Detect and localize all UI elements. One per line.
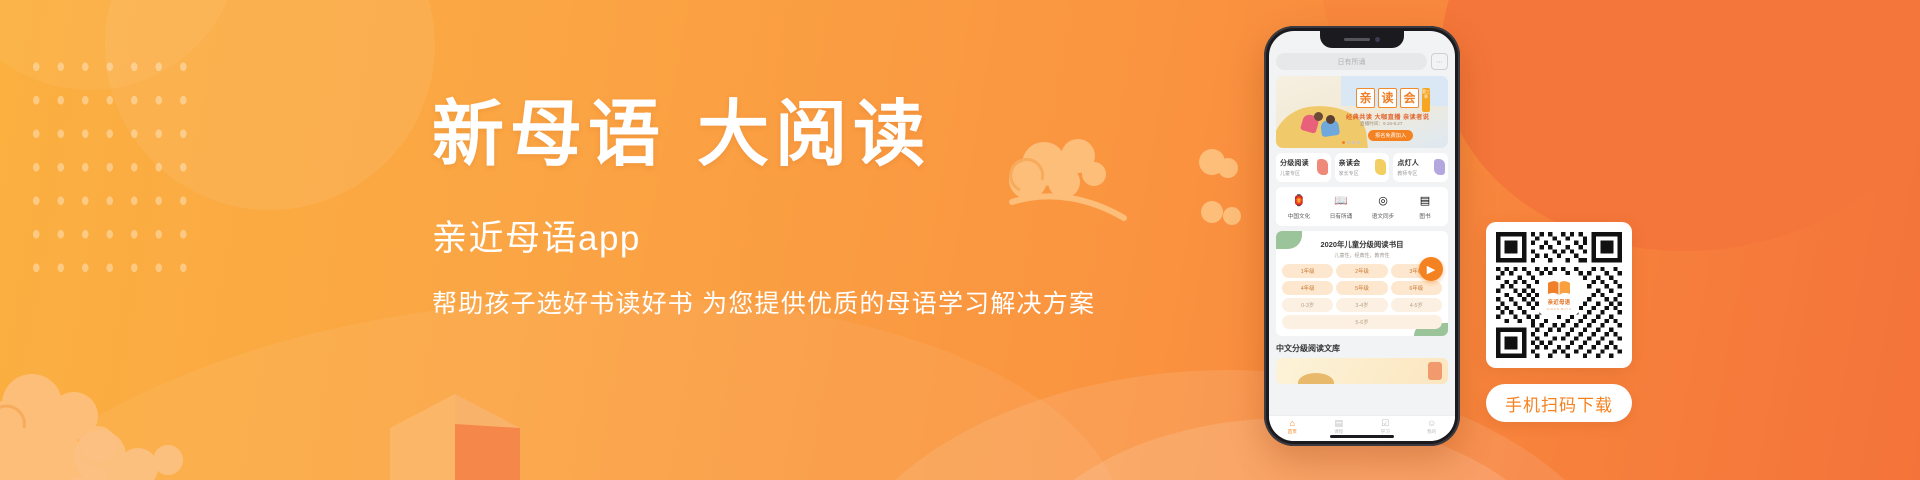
- tab-label: 首页: [1288, 429, 1297, 435]
- promo-banner: 新母语 大阅读 亲近母语app 帮助孩子选好书读好书 为您提供优质的母语学习解决…: [0, 0, 1920, 480]
- promo-title-char: 会: [1400, 88, 1419, 108]
- document-icon: ▤: [1418, 194, 1433, 209]
- download-button[interactable]: 手机扫码下载: [1486, 384, 1632, 422]
- background-circle-left-small: [0, 0, 240, 90]
- promo-title: 亲 读 会 第三季: [1356, 88, 1430, 112]
- age-chip[interactable]: 0-3岁: [1282, 298, 1333, 312]
- grade-chip[interactable]: 1年级: [1282, 264, 1333, 278]
- brand-pinyin: QINJIN MUYU: [1547, 307, 1572, 311]
- promo-ribbon: 第三季: [1422, 88, 1430, 112]
- quick-link-label: 日有所诵: [1330, 212, 1352, 220]
- bookmark-icon: [1375, 159, 1386, 175]
- carousel-dot[interactable]: [1352, 141, 1355, 144]
- tab-label: 课程: [1334, 429, 1343, 435]
- phone-mockup: 日有所诵 ⋯ 亲 读 会 第三季 经典共读 大咖: [1264, 26, 1460, 446]
- phone-screen: 日有所诵 ⋯ 亲 读 会 第三季 经典共读 大咖: [1269, 31, 1455, 441]
- user-icon: ☺: [1427, 419, 1436, 428]
- brand-name: 亲近母语: [1548, 298, 1571, 306]
- grade-chip[interactable]: 6年级: [1391, 281, 1442, 295]
- quick-link-daily-recitation[interactable]: 📖 日有所诵: [1320, 194, 1362, 220]
- age-chip[interactable]: 4-5岁: [1391, 298, 1442, 312]
- age-chip[interactable]: 5-6岁: [1282, 315, 1442, 329]
- quick-link-label: 语文同步: [1372, 212, 1394, 220]
- quick-link-books[interactable]: ▤ 图书: [1404, 194, 1446, 220]
- tab-label: 我的: [1427, 429, 1436, 435]
- tab-home[interactable]: ⌂ 首页: [1269, 419, 1316, 435]
- background-circle-left: [105, 0, 435, 210]
- home-icon: ⌂: [1290, 419, 1295, 428]
- entry-card-graded-reading[interactable]: 分级阅读 儿童专区: [1276, 153, 1331, 182]
- page-title: 新母语 大阅读: [432, 96, 1092, 172]
- isometric-cube-icon: [390, 394, 520, 480]
- auspicious-cloud-icon: [60, 406, 210, 480]
- brand-logo: 亲近母语 QINJIN MUYU: [1539, 275, 1579, 315]
- carousel-dot[interactable]: [1347, 141, 1350, 144]
- promo-child-blue-head: [1326, 115, 1335, 124]
- video-play-icon[interactable]: ▶: [1419, 257, 1443, 281]
- front-camera-icon: [1375, 37, 1380, 42]
- carousel-dot[interactable]: [1357, 141, 1360, 144]
- auspicious-cloud-icon: [1196, 144, 1242, 188]
- list-icon: ▤: [1334, 419, 1343, 428]
- tagline: 帮助孩子选好书读好书 为您提供优质的母语学习解决方案: [432, 289, 1092, 320]
- grade-chip[interactable]: 4年级: [1282, 281, 1333, 295]
- carousel-dot[interactable]: [1342, 141, 1345, 144]
- app-search-row: 日有所诵 ⋯: [1276, 53, 1448, 70]
- speaker-icon: [1344, 38, 1370, 41]
- carousel-dots[interactable]: [1342, 141, 1360, 144]
- promo-title-char: 亲: [1356, 88, 1375, 108]
- age-chip[interactable]: 3-4岁: [1336, 298, 1387, 312]
- grade-chip-row: 1年级 2年级 3年级 4年级 5年级 6年级 0-3岁 3-4岁 4-5岁 5…: [1282, 264, 1442, 329]
- tab-label: 学习: [1381, 429, 1390, 435]
- tab-mine[interactable]: ☺ 我的: [1409, 419, 1456, 435]
- copy-block: 新母语 大阅读 亲近母语app 帮助孩子选好书读好书 为您提供优质的母语学习解决…: [432, 96, 1092, 320]
- check-icon: ☑: [1381, 419, 1389, 428]
- library-illustration: [1298, 373, 1334, 384]
- bookmark-icon: [1317, 159, 1328, 175]
- library-section-title: 中文分级阅读文库: [1276, 343, 1448, 354]
- entry-card-row: 分级阅读 儿童专区 亲读会 家长专区 点灯人 教师专区: [1276, 153, 1448, 182]
- bookmark-icon: [1434, 159, 1445, 175]
- scan-icon[interactable]: ⋯: [1431, 53, 1448, 70]
- promo-subtitle: 经典共读 大咖直播 亲读者说: [1346, 112, 1429, 121]
- tab-courses[interactable]: ▤ 课程: [1316, 419, 1363, 435]
- library-card[interactable]: [1276, 358, 1448, 384]
- booklist-section: 2020年儿童分级阅读书目 儿童性，经典性，教育性 1年级 2年级 3年级 4年…: [1276, 231, 1448, 336]
- promo-child-red-head: [1314, 112, 1323, 121]
- quick-link-label: 中国文化: [1288, 212, 1310, 220]
- quick-link-label: 图书: [1419, 212, 1430, 220]
- quick-link-row: 🏮 中国文化 📖 日有所诵 ◎ 语文同步 ▤ 图书: [1276, 187, 1448, 226]
- download-block: 亲近母语 QINJIN MUYU 手机扫码下载: [1486, 222, 1632, 422]
- open-book-icon: [1547, 280, 1571, 297]
- quick-link-textbook-sync[interactable]: ◎ 语文同步: [1362, 194, 1404, 220]
- auspicious-cloud-icon: [1198, 196, 1250, 230]
- qr-code-icon[interactable]: 亲近母语 QINJIN MUYU: [1486, 222, 1632, 368]
- entry-card-teacher[interactable]: 点灯人 教师专区: [1393, 153, 1448, 182]
- search-input[interactable]: 日有所诵: [1276, 53, 1427, 70]
- lantern-icon: 🏮: [1292, 194, 1307, 209]
- tab-study[interactable]: ☑ 学习: [1362, 419, 1409, 435]
- library-book-icon: [1428, 362, 1442, 380]
- auspicious-cloud-icon: [0, 360, 154, 480]
- grade-chip[interactable]: 5年级: [1336, 281, 1387, 295]
- booklist-title: 2020年儿童分级阅读书目: [1282, 239, 1442, 250]
- entry-card-parent-club[interactable]: 亲读会 家长专区: [1335, 153, 1390, 182]
- phone-notch: [1320, 31, 1404, 48]
- booklist-subtitle: 儿童性，经典性，教育性: [1282, 252, 1442, 259]
- book-stack-icon: 📖: [1334, 194, 1349, 209]
- home-indicator: [1330, 435, 1394, 438]
- promo-title-char: 读: [1378, 88, 1397, 108]
- quick-link-chinese-culture[interactable]: 🏮 中国文化: [1278, 194, 1320, 220]
- dot-grid-icon: [22, 48, 202, 278]
- camera-frame-icon: ◎: [1376, 194, 1391, 209]
- promo-detail: 直播时间：9.16-9.27: [1360, 121, 1402, 127]
- promo-banner-card[interactable]: 亲 读 会 第三季 经典共读 大咖直播 亲读者说 直播时间：9.16-9.27 …: [1276, 76, 1448, 148]
- promo-cta-button[interactable]: 报名免费加入: [1368, 130, 1413, 141]
- app-name: 亲近母语app: [432, 220, 1092, 259]
- grade-chip[interactable]: 2年级: [1336, 264, 1387, 278]
